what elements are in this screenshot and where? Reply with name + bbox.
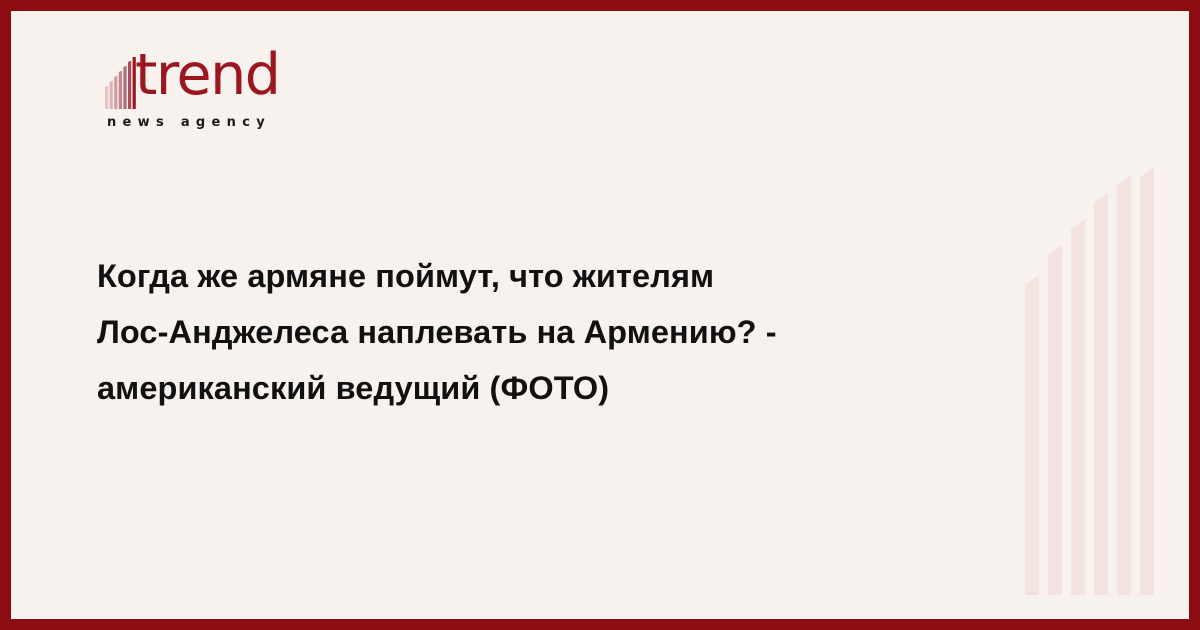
ascending-bars-watermark [1025, 167, 1165, 595]
trend-news-agency-logo[interactable]: trend news agency [97, 49, 317, 144]
share-card: trend news agency Когда же армяне поймут… [0, 0, 1200, 630]
headline-line-1: Когда же армяне поймут, что жителям [97, 249, 927, 305]
ascending-bars-icon [105, 57, 139, 109]
logo-tagline: news agency [107, 115, 271, 130]
headline-line-2: Лос-Анджелеса наплевать на Армению? - [97, 305, 927, 361]
headline-line-3: американский ведущий (ФОТО) [97, 361, 927, 417]
headline: Когда же армяне поймут, что жителям Лос-… [97, 249, 927, 417]
logo-wordmark: trend [135, 47, 279, 104]
